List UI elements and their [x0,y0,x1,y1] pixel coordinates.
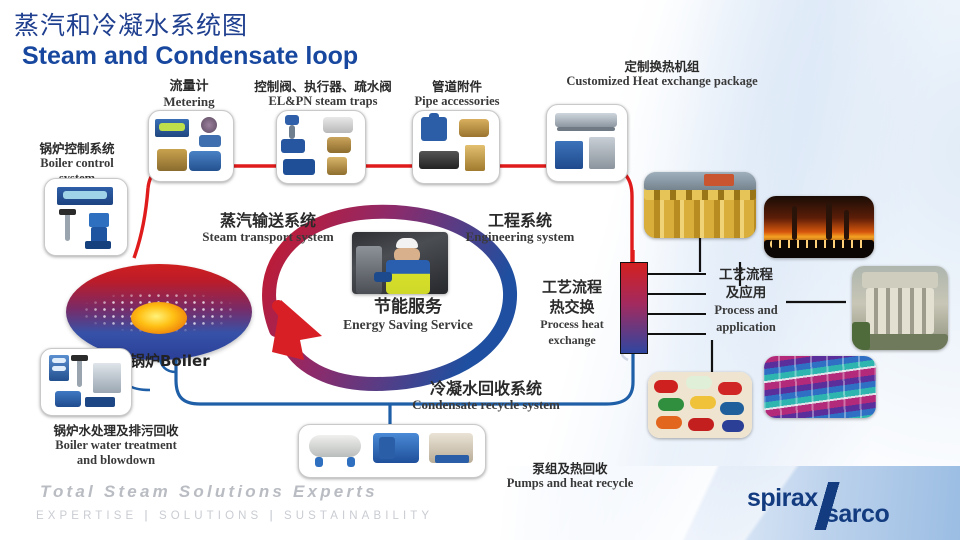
label-en: Pipe accessories [398,94,516,108]
label-cn-2: 热交换 [524,298,620,318]
label-cn: 工程系统 [440,212,600,230]
tile-boiler-water-treatment[interactable] [40,348,132,416]
label-en: Steam transport system [178,230,358,245]
label-en: Customized Heat exchange package [540,74,784,88]
label-cn: 冷凝水回收系统 [396,380,576,398]
label-cn: 定制换热机组 [540,60,784,74]
label-en: Condensate recycle system [396,398,576,413]
slide-canvas: 蒸汽和冷凝水系统图 Steam and Condensate loop [0,0,960,540]
pillar-separator-1: | [145,510,152,522]
label-steam-traps: 控制阀、执行器、疏水阀 EL&PN steam traps [248,80,398,109]
label-cn: 蒸汽输送系统 [178,212,358,230]
label-en-1: Process and [686,302,806,319]
photo-textile-threads[interactable] [764,356,876,418]
photo-pharma-pills[interactable] [648,372,752,438]
label-process-and-application: 工艺流程 及应用 Process and application [686,266,806,336]
label-en-2: application [686,319,806,336]
tile-pipe-accessories[interactable] [412,110,500,184]
footer-tagline: Total Steam Solutions Experts [40,482,378,502]
tile-boiler-control-system[interactable] [44,178,128,256]
label-cn-1: 工艺流程 [524,278,620,298]
label-cn: 节能服务 [318,298,498,317]
label-en-2: and blowdown [26,453,206,467]
label-en: Engineering system [440,230,600,245]
label-heat-exchange-package: 定制换热机组 Customized Heat exchange package [540,60,784,89]
label-en-1: Boiler water treatment [26,438,206,452]
heat-exchanger-graphic [620,262,648,354]
tile-pumps-heat-recycle[interactable] [298,424,486,478]
label-metering: 流量计 Metering [146,80,232,110]
label-en: Process heat exchange [524,317,620,348]
label-cn: 管道附件 [398,80,516,94]
label-cn: 控制阀、执行器、疏水阀 [248,80,398,94]
photo-food-cans[interactable] [644,172,756,238]
label-pipe-accessories: 管道附件 Pipe accessories [398,80,516,109]
label-cn: 锅炉控制系统 [22,142,132,156]
label-cn: 锅炉水处理及排污回收 [26,424,206,438]
tile-metering[interactable] [148,110,234,182]
pillar-expertise: EXPERTISE [36,510,137,522]
label-condensate-recycle: 冷凝水回收系统 Condensate recycle system [396,380,576,413]
pillar-sustainability: SUSTAINABILITY [284,510,433,522]
label-cn-1: 工艺流程 [686,266,806,284]
label-engineering-system: 工程系统 Engineering system [440,212,600,245]
label-en: EL&PN steam traps [248,94,398,108]
label-process-heat-exchange: 工艺流程 热交换 Process heat exchange [524,278,620,348]
pillar-solutions: SOLUTIONS [159,510,262,522]
label-energy-saving-service: 节能服务 Energy Saving Service [318,298,498,333]
boiler-flame-icon [131,302,187,334]
logo-word-spirax: spirax [747,484,818,513]
spirax-sarco-logo: spirax sarco [747,484,942,530]
boiler-graphic [66,264,252,360]
logo-word-sarco: sarco [825,500,889,529]
label-pumps-heat-recycle: 泵组及热回收 Pumps and heat recycle [490,462,650,491]
pillar-separator-2: | [270,510,277,522]
tile-heat-exchange-package[interactable] [546,104,628,182]
photo-engineer[interactable] [352,232,448,294]
photo-refinery-sunset[interactable] [764,196,874,258]
label-steam-transport: 蒸汽输送系统 Steam transport system [178,212,358,245]
label-cn: 泵组及热回收 [490,462,650,476]
footer-pillars: EXPERTISE | SOLUTIONS | SUSTAINABILITY [36,510,433,522]
label-boiler: 锅炉Boiler [130,350,210,371]
label-cn: 流量计 [146,80,232,95]
label-en: Metering [146,95,232,110]
photo-classical-building[interactable] [852,266,948,350]
label-cn-2: 及应用 [686,284,806,302]
label-boiler-water-treatment: 锅炉水处理及排污回收 Boiler water treatment and bl… [26,424,206,467]
label-en: Energy Saving Service [318,317,498,332]
label-en: Pumps and heat recycle [490,476,650,490]
tile-steam-traps[interactable] [276,110,366,184]
